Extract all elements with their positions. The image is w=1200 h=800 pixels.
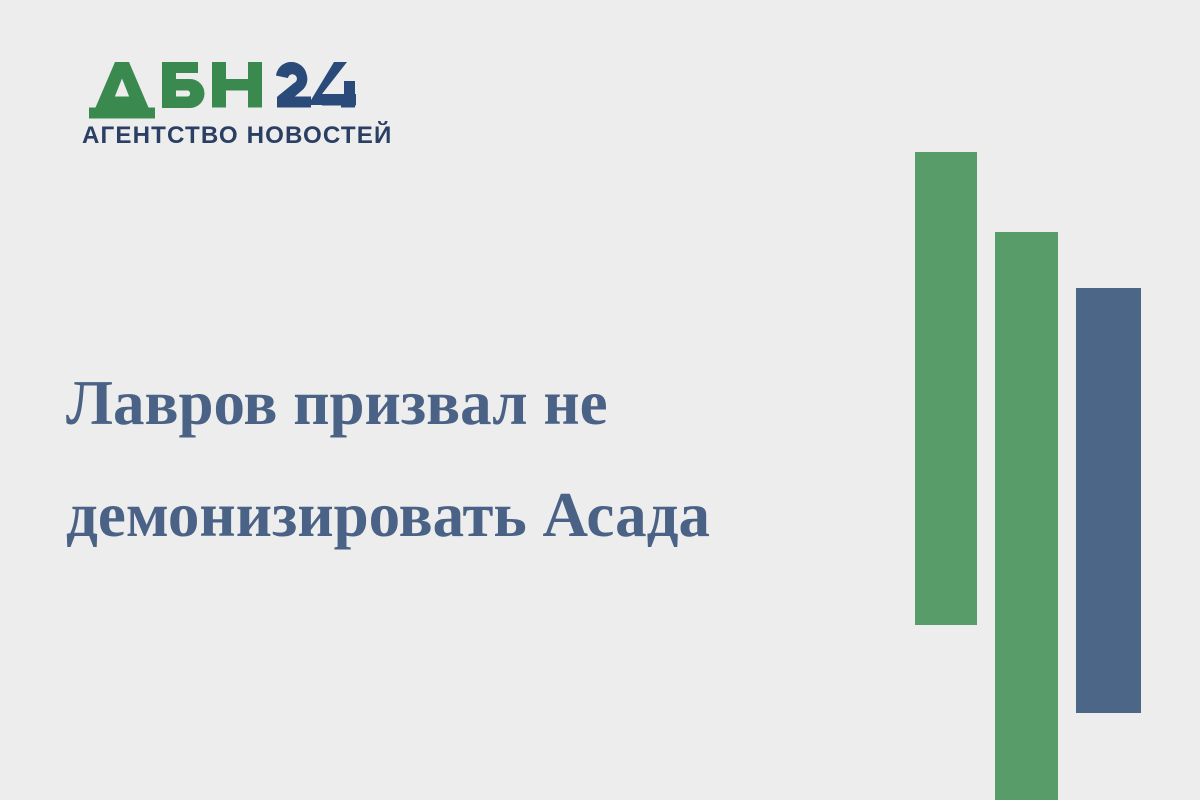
logo-letter-de — [89, 62, 155, 119]
logo-tagline: АГЕНТСТВО НОВОСТЕЙ — [82, 124, 368, 149]
bar-graphic — [900, 0, 1200, 800]
page-title: Лавров призвал не демонизировать Асада — [66, 348, 856, 571]
abn24-logo-mark — [82, 62, 358, 120]
bar-short-blue — [1076, 288, 1141, 713]
bar-mid-green — [995, 232, 1058, 800]
logo-digit-four — [308, 62, 356, 108]
logo-digit-two — [276, 62, 311, 108]
logo-letter-en — [212, 62, 262, 108]
bar-tall-green — [915, 152, 977, 625]
abn24-logo[interactable]: АГЕНТСТВО НОВОСТЕЙ — [82, 62, 372, 154]
logo-letter-be — [162, 62, 205, 108]
news-card-page: АГЕНТСТВО НОВОСТЕЙ Лавров призвал не дем… — [0, 0, 1200, 800]
